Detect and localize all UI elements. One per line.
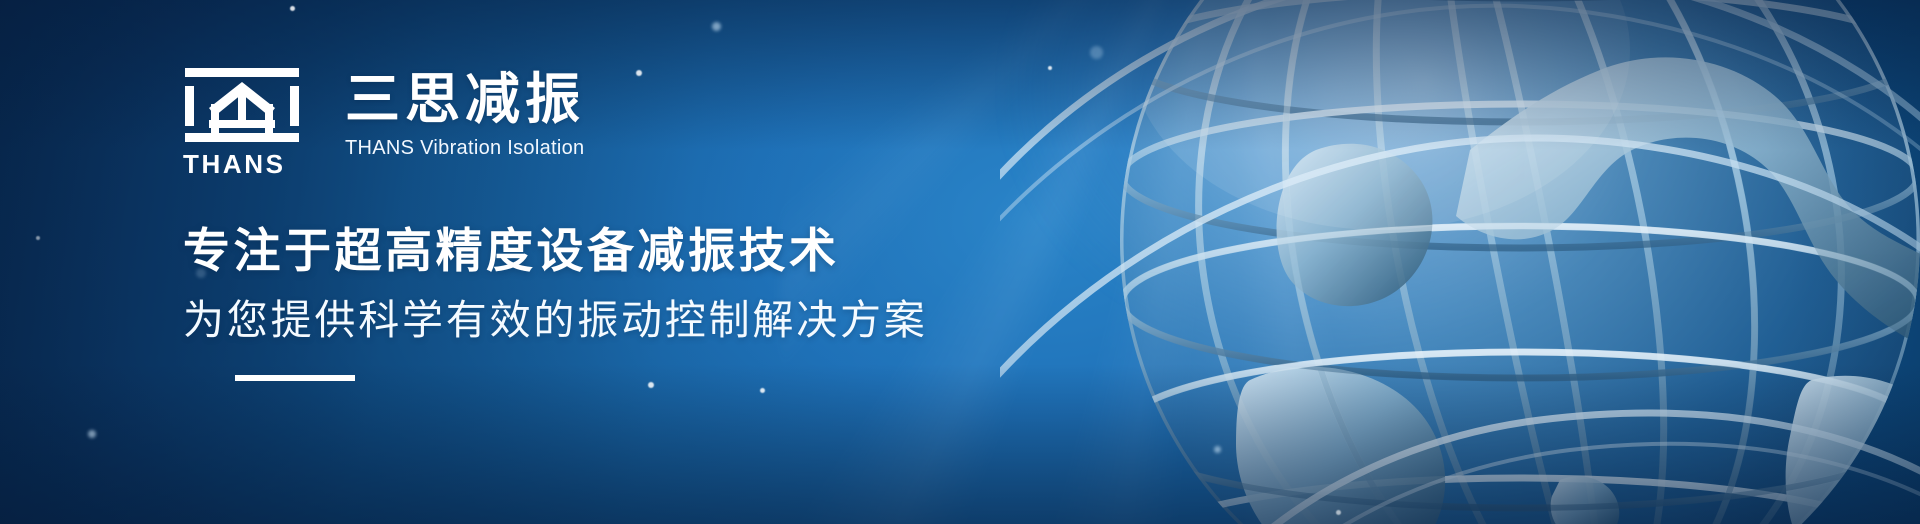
bokeh-dot [648,382,654,388]
hero-banner: THANS 三思减振 THANS Vibration Isolation 专注于… [0,0,1920,524]
brand-name-block: 三思减振 THANS Vibration Isolation [345,64,585,160]
bokeh-dot [760,388,765,393]
headline: 专注于超高精度设备减振技术 [183,225,1143,278]
logo-block[interactable]: THANS [183,64,305,177]
thans-monogram-icon [183,68,301,142]
decorative-divider [235,375,355,381]
logo-wordmark: THANS [183,151,305,177]
bokeh-dot [36,236,40,240]
bokeh-dot [1214,446,1221,453]
bokeh-dot [1336,510,1341,515]
banner-content: THANS 三思减振 THANS Vibration Isolation 专注于… [183,64,1143,381]
brand-name-cn: 三思减振 [345,70,585,129]
brand-lockup: THANS 三思减振 THANS Vibration Isolation [183,64,1143,177]
bokeh-dot [1090,46,1103,59]
bokeh-dot [712,22,721,31]
bokeh-dot [290,6,295,11]
brand-name-en: THANS Vibration Isolation [345,137,585,160]
bokeh-dot [88,430,96,438]
subheadline: 为您提供科学有效的振动控制解决方案 [183,297,1143,344]
